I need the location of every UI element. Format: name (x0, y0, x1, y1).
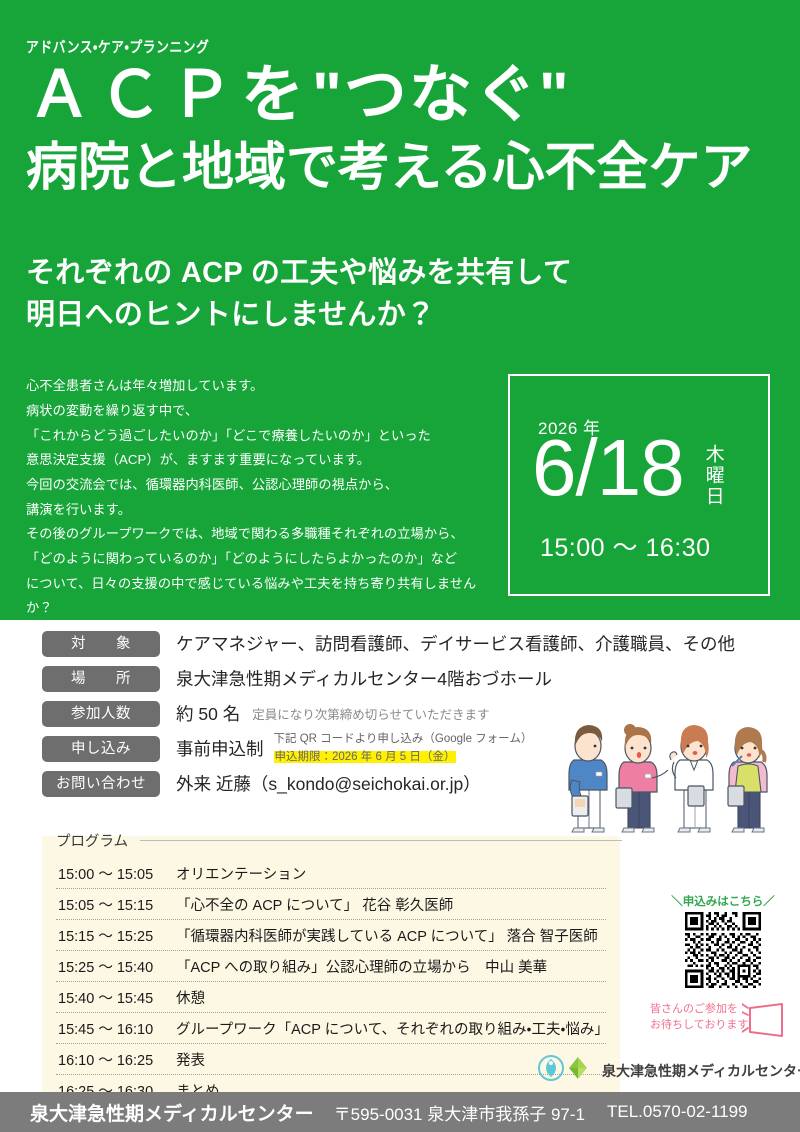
qr-caption-slash-left: ＼ (671, 893, 683, 909)
hospital-logo-icon (538, 1055, 596, 1086)
program-desc: 「ACP への取り組み」公認心理師の立場から 中山 美華 (176, 956, 604, 977)
qr-block: ＼申込みはこちら／ (662, 893, 784, 988)
hero-lead-paragraph-2: その後のグループワークでは、地域で関わる多職種それぞれの立場から、 「どのように… (26, 522, 496, 621)
program-row: 15:25 〜 15:40 「ACP への取り組み」公認心理師の立場から 中山 … (56, 951, 606, 982)
program-time: 15:00 〜 15:05 (58, 863, 176, 884)
qr-caption-text: 申込みはこちら (683, 896, 764, 908)
footer-hospital-name: 泉大津急性期メディカルセンター (30, 1099, 314, 1126)
program-time: 15:40 〜 15:45 (58, 987, 176, 1008)
megaphone-icon (742, 1002, 788, 1038)
program-desc: 休憩 (176, 987, 604, 1008)
program-desc: 「心不全の ACP について」 花谷 彰久医師 (176, 894, 604, 915)
info-note-capacity: 定員になり次第締め切らせていただきます (252, 704, 489, 723)
program-heading-rule (140, 840, 622, 841)
info-value-application: 事前申込制 (176, 736, 264, 761)
info-label-application: 申し込み (42, 736, 160, 762)
qr-code-icon[interactable] (685, 912, 761, 988)
qr-caption: ＼申込みはこちら／ (662, 893, 784, 909)
hero-subtitle: それぞれの ACP の工夫や悩みを共有して 明日へのヒントにしませんか？ (26, 252, 572, 336)
brand-name: 泉大津急性期メディカルセンター (602, 1061, 800, 1081)
program-row: 15:45 〜 16:10 グループワーク「ACP について、それぞれの取り組み… (56, 1013, 606, 1044)
application-howto: 下記 QR コードより申し込み（Google フォーム） (274, 731, 533, 748)
program-row: 16:10 〜 16:25 発表 (56, 1044, 606, 1075)
program-row: 15:40 〜 15:45 休憩 (56, 982, 606, 1013)
program-box: 15:00 〜 15:05 オリエンテーション 15:05 〜 15:15 「心… (42, 836, 620, 1116)
info-label-venue: 場 所 (42, 666, 160, 692)
title-main-b: "つなぐ" (312, 60, 571, 130)
program-time: 15:05 〜 15:15 (58, 894, 176, 915)
hero-lead-paragraph-1: 心不全患者さんは年々増加しています。 病状の変動を繰り返す中で、 「これからどう… (26, 374, 496, 523)
info-value-venue: 泉大津急性期メディカルセンター4階おづホール (176, 666, 552, 691)
program-time: 15:15 〜 15:25 (58, 925, 176, 946)
info-sub-application: 下記 QR コードより申し込み（Google フォーム） 申込期限：2026 年… (274, 731, 533, 766)
info-label-target: 対 象 (42, 631, 160, 657)
event-date: 6/18 (532, 428, 684, 508)
footer-telephone: TEL.0570-02-1199 (607, 1102, 748, 1122)
page-title: ＡＣＰを"つなぐ" (28, 62, 571, 128)
info-row-venue: 場 所 泉大津急性期メディカルセンター4階おづホール (0, 661, 800, 696)
event-time: 15:00 〜 16:30 (540, 528, 711, 564)
info-row-target: 対 象 ケアマネジャー、訪問看護師、デイサービス看護師、介護職員、その他 (0, 626, 800, 661)
program-time: 15:45 〜 16:10 (58, 1018, 176, 1039)
footer-bar: 泉大津急性期メディカルセンター 〒595-0031 泉大津市我孫子 97-1 T… (0, 1092, 800, 1132)
info-label-contact: お問い合わせ (42, 771, 160, 797)
program-heading: プログラム (56, 830, 622, 851)
info-label-capacity: 参加人数 (42, 701, 160, 727)
hero-section: アドバンス・ケア・プランニング ＡＣＰを"つなぐ" 病院と地域で考える心不全ケア… (0, 0, 800, 620)
event-day-of-week: 木曜日 (700, 444, 726, 507)
event-date-box: 2026 年 6/18 木曜日 15:00 〜 16:30 (508, 374, 770, 596)
program-time: 16:10 〜 16:25 (58, 1049, 176, 1070)
program-time: 15:25 〜 15:40 (58, 956, 176, 977)
application-deadline: 申込期限：2026 年 6 月 5 日（金） (274, 751, 457, 763)
program-row: 15:15 〜 15:25 「循環器内科医師が実践している ACP について」 … (56, 920, 606, 951)
footer-address: 〒595-0031 泉大津市我孫子 97-1 (334, 1100, 585, 1125)
info-value-capacity: 約 50 名 (176, 701, 240, 726)
info-value-contact: 外来 近藤（s_kondo@seichokai.or.jp） (176, 771, 481, 796)
program-desc: 「循環器内科医師が実践している ACP について」 落合 智子医師 (176, 925, 604, 946)
title-main-a: ＡＣＰを (28, 60, 312, 130)
brand-logo: 泉大津急性期メディカルセンター (538, 1055, 800, 1086)
page-subtitle-heading: 病院と地域で考える心不全ケア (26, 140, 752, 197)
info-value-target: ケアマネジャー、訪問看護師、デイサービス看護師、介護職員、その他 (176, 631, 735, 656)
welcome-message: 皆さんのご参加を お待ちしております (650, 1002, 748, 1034)
hero-kicker: アドバンス・ケア・プランニング (26, 36, 209, 57)
qr-caption-slash-right: ／ (763, 893, 775, 909)
program-row: 15:00 〜 15:05 オリエンテーション (56, 858, 606, 889)
program-desc: グループワーク「ACP について、それぞれの取り組み・工夫・悩み」 (176, 1018, 609, 1039)
program-desc: オリエンテーション (176, 863, 604, 884)
poster-root: アドバンス・ケア・プランニング ＡＣＰを"つなぐ" 病院と地域で考える心不全ケア… (0, 0, 800, 1132)
program-heading-label: プログラム (56, 830, 140, 851)
program-row: 15:05 〜 15:15 「心不全の ACP について」 花谷 彰久医師 (56, 889, 606, 920)
